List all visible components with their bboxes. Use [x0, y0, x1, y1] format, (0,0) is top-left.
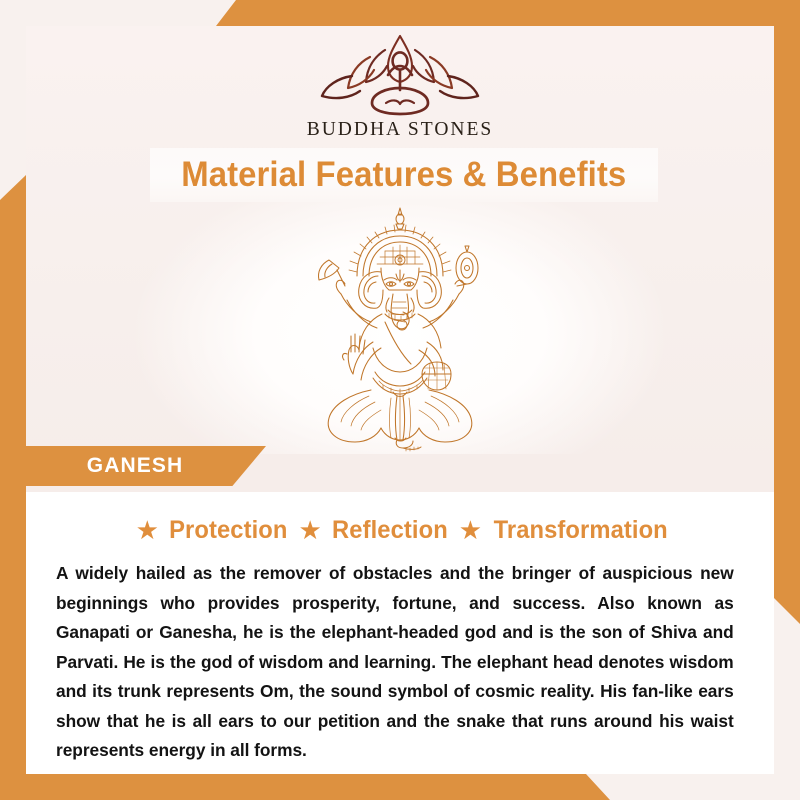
ganesh-deity-illustration — [285, 202, 515, 452]
star-icon: ★ — [459, 517, 482, 543]
feature-label-protection: Protection — [169, 516, 287, 545]
brand-logo-block: BUDDHA STONES — [26, 26, 774, 155]
ganesh-ribbon: GANESH — [26, 446, 266, 486]
star-icon: ★ — [136, 517, 159, 543]
content-card: ★ Protection ★ Reflection ★ Transformati… — [26, 492, 774, 774]
ribbon-label: GANESH — [26, 446, 266, 486]
deity-illustration-area — [26, 202, 774, 454]
description-paragraph: A widely hailed as the remover of obstac… — [56, 559, 734, 766]
feature-item-protection: ★ Protection — [128, 516, 291, 545]
star-icon: ★ — [299, 517, 322, 543]
feature-list: ★ Protection ★ Reflection ★ Transformati… — [26, 492, 774, 545]
feature-item-reflection: ★ Reflection — [291, 516, 451, 545]
poster-root: BUDDHA STONES Material Features & Benefi… — [0, 0, 800, 800]
page-title: Material Features & Benefits — [181, 155, 626, 195]
feature-item-transformation: ★ Transformation — [451, 516, 673, 545]
feature-label-transformation: Transformation — [494, 516, 668, 545]
brand-name: BUDDHA STONES — [307, 119, 494, 141]
lotus-meditation-figure-icon — [314, 30, 486, 118]
page-surface: BUDDHA STONES Material Features & Benefi… — [26, 26, 774, 774]
title-banner: Material Features & Benefits — [150, 148, 658, 202]
feature-label-reflection: Reflection — [332, 516, 448, 545]
